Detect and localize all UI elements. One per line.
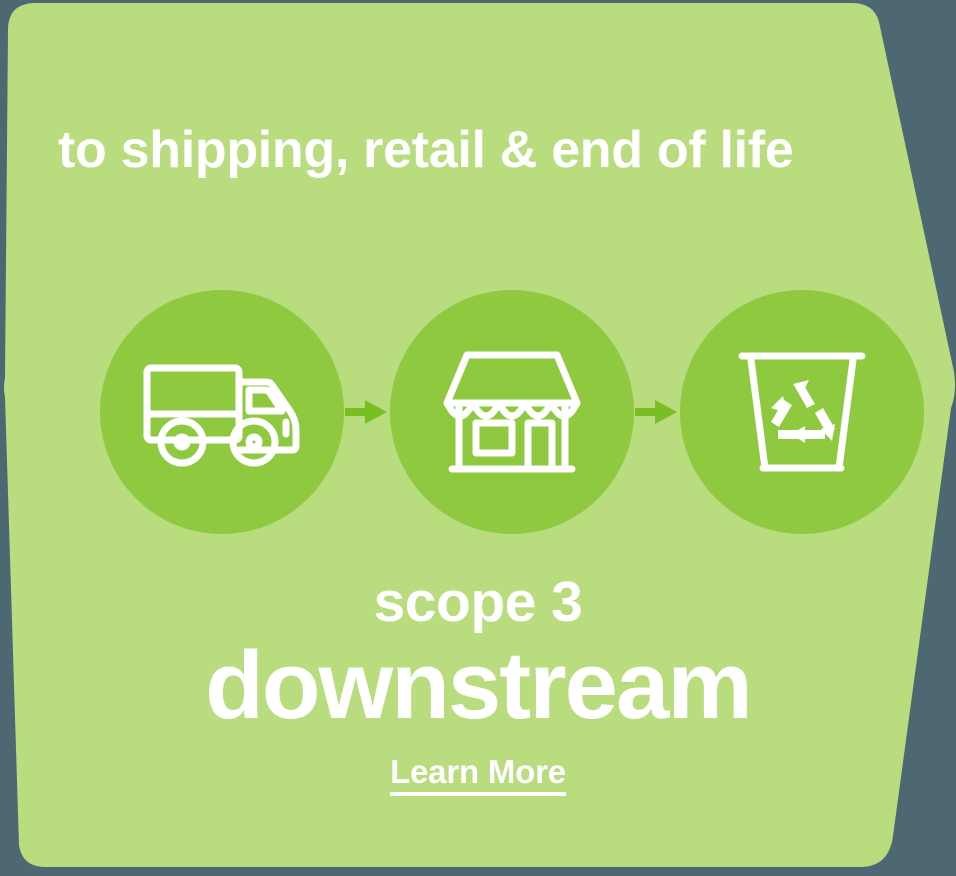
scope-3-downstream-card: to shipping, retail & end of life — [0, 0, 956, 876]
recycle-bin-icon — [737, 346, 867, 478]
arrow-right-icon — [345, 398, 389, 426]
lifecycle-flow-row — [100, 288, 920, 536]
learn-more-link[interactable]: Learn More — [390, 755, 566, 796]
card-title: downstream — [0, 638, 956, 734]
delivery-truck-icon — [142, 352, 302, 472]
flow-step-retail[interactable] — [390, 290, 634, 534]
storefront-icon — [442, 347, 582, 477]
cta-container: Learn More — [0, 755, 956, 796]
flow-step-shipping[interactable] — [100, 290, 344, 534]
flow-connector-1 — [344, 397, 390, 427]
scope-label: scope 3 — [0, 574, 956, 631]
arrow-right-icon — [635, 398, 679, 426]
flow-step-end-of-life[interactable] — [680, 290, 924, 534]
card-headline: to shipping, retail & end of life — [58, 124, 793, 176]
flow-connector-2 — [634, 397, 680, 427]
